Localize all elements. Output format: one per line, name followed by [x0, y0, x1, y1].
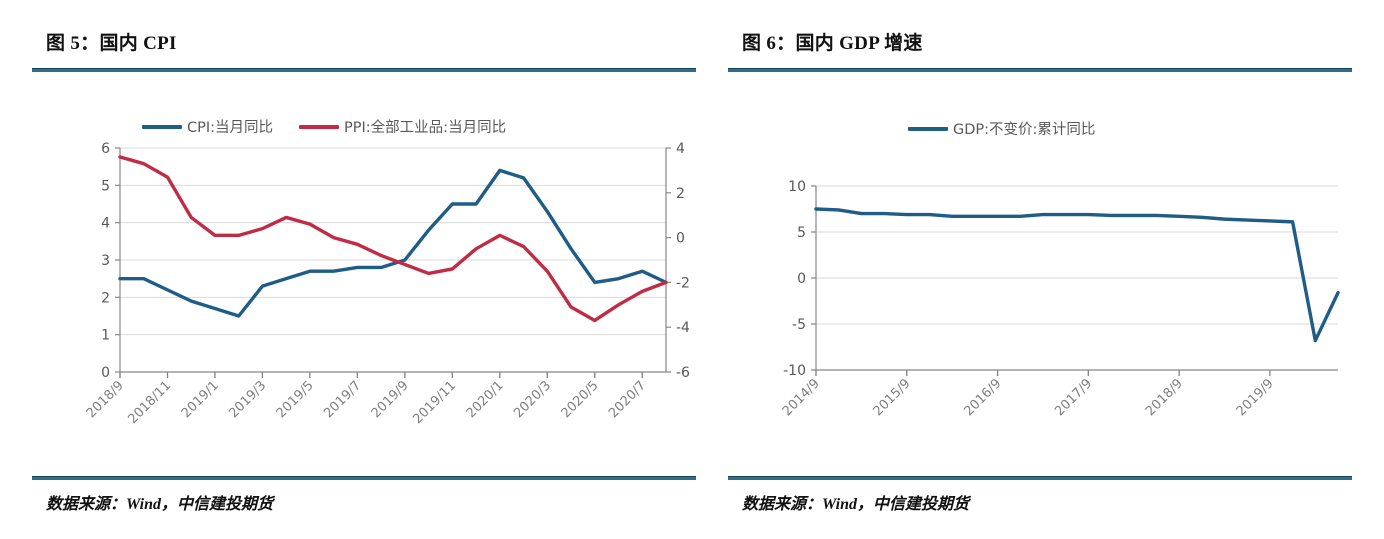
x-axis-tick-label: 2018/9 — [84, 378, 127, 421]
x-axis-tick-label: 2019/3 — [226, 378, 269, 421]
y-axis-left-label: 6 — [101, 141, 110, 157]
y-axis-left-label: 0 — [101, 365, 110, 381]
x-axis-tick-label: 2014/9 — [780, 376, 823, 419]
source-note-right: 数据来源：Wind，中信建投期货 — [742, 490, 969, 514]
chart-canvas-gdp: -10-505102014/92015/92016/92017/92018/92… — [728, 136, 1352, 466]
y-axis-right-label: 4 — [676, 141, 685, 157]
figure-panel-gdp: 图 6：国内 GDP 增速 GDP:不变价:累计同比 -10-505102014… — [728, 0, 1352, 539]
y-axis-right-label: -2 — [676, 275, 690, 291]
footer-divider-left — [32, 476, 696, 480]
footer-divider-right — [728, 476, 1352, 480]
legend-item-cpi: CPI:当月同比 — [142, 116, 273, 137]
legend-swatch-line-icon-gdp — [908, 127, 948, 131]
chart-gdp: -10-505102014/92015/92016/92017/92018/92… — [728, 136, 1352, 466]
y-axis-right-label: 2 — [676, 186, 685, 202]
y-axis-right-label: -4 — [676, 320, 690, 336]
x-axis-tick-label: 2020/5 — [559, 378, 602, 421]
page-title-figure-5: 图 5：国内 CPI — [46, 28, 177, 55]
x-axis-tick-label: 2020/3 — [511, 378, 554, 421]
y-axis-left-label: 4 — [101, 216, 110, 232]
header-divider-right — [728, 68, 1352, 72]
x-axis-tick-label: 2019/11 — [410, 378, 459, 427]
x-axis-tick-label: 2018/11 — [126, 378, 175, 427]
figure-panel-cpi: 图 5：国内 CPI CPI:当月同比 PPI:全部工业品:当月同比 01234… — [32, 0, 696, 539]
chart-cpi-ppi: 0123456-6-4-20242018/92018/112019/12019/… — [32, 136, 696, 466]
legend-label-cpi: CPI:当月同比 — [187, 116, 273, 137]
y-axis-left-label: 10 — [788, 179, 806, 195]
report-page: 图 5：国内 CPI CPI:当月同比 PPI:全部工业品:当月同比 01234… — [0, 0, 1384, 539]
y-axis-left-label: 5 — [101, 178, 110, 194]
x-axis-tick-label: 2018/9 — [1143, 376, 1186, 419]
chart-canvas-cpi: 0123456-6-4-20242018/92018/112019/12019/… — [32, 136, 696, 466]
x-axis-tick-label: 2020/1 — [464, 378, 507, 421]
series-line-0 — [816, 209, 1338, 341]
x-axis-tick-label: 2019/7 — [321, 378, 364, 421]
x-axis-tick-label: 2019/1 — [179, 378, 222, 421]
x-axis-tick-label: 2015/9 — [871, 376, 914, 419]
y-axis-left-label: 2 — [101, 290, 110, 306]
y-axis-left-label: 5 — [797, 225, 806, 241]
legend-swatch-line-icon-cpi — [142, 125, 182, 129]
y-axis-left-label: -10 — [783, 363, 806, 379]
x-axis-tick-label: 2016/9 — [961, 376, 1004, 419]
y-axis-right-label: -6 — [676, 365, 690, 381]
legend-item-ppi: PPI:全部工业品:当月同比 — [299, 116, 506, 137]
legend-label-ppi: PPI:全部工业品:当月同比 — [344, 116, 506, 137]
y-axis-right-label: 0 — [676, 231, 685, 247]
series-line-0 — [120, 170, 666, 316]
x-axis-tick-label: 2019/9 — [369, 378, 412, 421]
x-axis-tick-label: 2019/5 — [274, 378, 317, 421]
legend-swatch-line-icon-ppi — [299, 125, 339, 129]
y-axis-left-label: 0 — [797, 271, 806, 287]
legend-cpi-chart: CPI:当月同比 PPI:全部工业品:当月同比 — [142, 116, 506, 137]
series-line-1 — [120, 157, 666, 321]
x-axis-tick-label: 2020/7 — [606, 378, 649, 421]
x-axis-tick-label: 2017/9 — [1052, 376, 1095, 419]
y-axis-left-label: 3 — [101, 253, 110, 269]
x-axis-tick-label: 2019/9 — [1234, 376, 1277, 419]
page-title-figure-6: 图 6：国内 GDP 增速 — [742, 28, 923, 55]
source-note-left: 数据来源：Wind，中信建投期货 — [46, 490, 273, 514]
y-axis-left-label: -5 — [792, 317, 806, 333]
y-axis-left-label: 1 — [101, 328, 110, 344]
header-divider-left — [32, 68, 696, 72]
